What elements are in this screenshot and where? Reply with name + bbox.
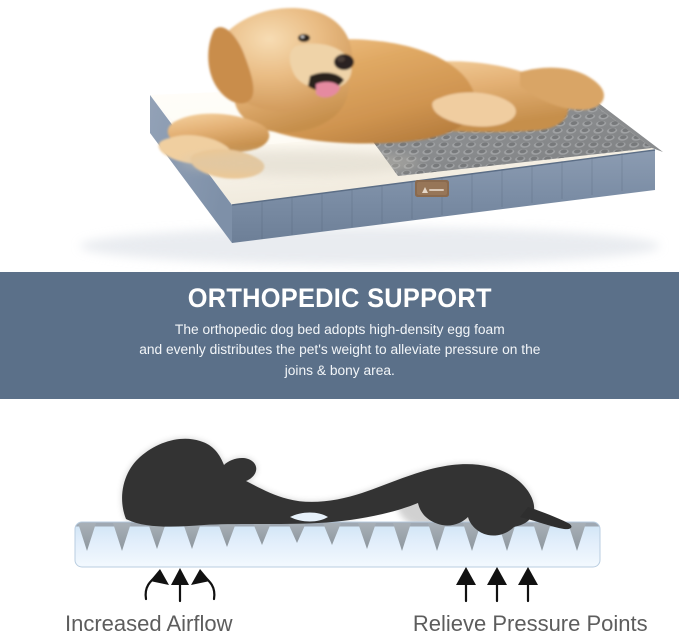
diagram-captions: Increased Airflow Relieve Pressure Point…: [0, 606, 679, 641]
banner-body-line-1: The orthopedic dog bed adopts high-densi…: [139, 320, 540, 340]
caption-increased-airflow: Increased Airflow: [0, 606, 352, 641]
banner-body-line-3: joins & bony area.: [139, 361, 540, 381]
brand-logo-patch: [415, 180, 449, 197]
dog-nose-highlight: [337, 56, 345, 62]
orthopedic-support-banner: ORTHOPEDIC SUPPORT The orthopedic dog be…: [0, 272, 679, 399]
caption-relieve-pressure-points: Relieve Pressure Points: [352, 606, 679, 641]
foam-pad: [75, 522, 600, 567]
banner-body: The orthopedic dog bed adopts high-densi…: [139, 320, 540, 380]
bed-ground-shadow: [80, 227, 660, 265]
dog-eye-glint: [301, 36, 305, 39]
dog-nose: [334, 54, 354, 70]
airflow-arrow-heads: [150, 568, 210, 585]
product-infographic: ORTHOPEDIC SUPPORT The orthopedic dog be…: [0, 0, 679, 641]
product-photo-illustration: [0, 0, 679, 272]
dog-contact-shadow: [180, 150, 420, 176]
dog-eye: [298, 34, 310, 42]
banner-body-line-2: and evenly distributes the pet's weight …: [139, 340, 540, 360]
pressure-diagram-section: Increased Airflow Relieve Pressure Point…: [0, 399, 679, 641]
product-photo-section: [0, 0, 679, 272]
banner-title: ORTHOPEDIC SUPPORT: [187, 283, 491, 313]
pressure-diagram-illustration: [0, 399, 679, 611]
